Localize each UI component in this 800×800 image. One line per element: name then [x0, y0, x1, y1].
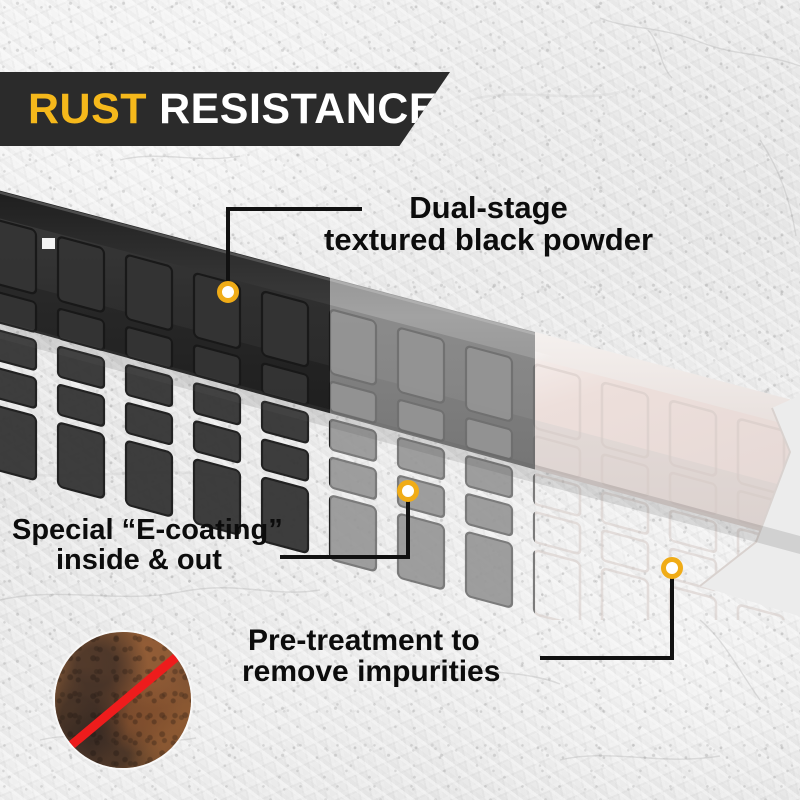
callout-marker-pretreat	[661, 557, 683, 579]
callout-pretreat-line1: Pre-treatment to	[248, 626, 500, 657]
callout-powder-line2: textured black powder	[324, 224, 653, 256]
title-banner: RUSTRESISTANCE	[0, 72, 450, 146]
reflection-speck	[42, 238, 55, 249]
callout-marker-ecoat	[397, 480, 419, 502]
callout-text-pretreatment: Pre-treatment to remove impurities	[248, 626, 500, 687]
callout-ecoat-line2: inside & out	[56, 546, 283, 576]
marketing-image: RUSTRESISTANCE Dual-stage textured black…	[0, 0, 800, 800]
leader-line-pretreat-horizontal	[540, 656, 674, 660]
callout-pretreat-line2: remove impurities	[242, 657, 500, 688]
leader-line-ecoat-vertical	[406, 495, 410, 559]
title-text: RUSTRESISTANCE	[28, 88, 438, 131]
title-word-rest: RESISTANCE	[159, 85, 438, 133]
callout-text-ecoat: Special “E-coating” inside & out	[12, 516, 283, 575]
title-word-highlight: RUST	[28, 85, 147, 133]
callout-marker-powder	[217, 281, 239, 303]
leader-line-pretreat-vertical	[670, 572, 674, 660]
leader-line-ecoat-horizontal	[280, 555, 410, 559]
callout-text-powder: Dual-stage textured black powder	[324, 192, 653, 255]
callout-powder-line1: Dual-stage	[324, 192, 653, 224]
no-rust-badge	[55, 632, 191, 768]
callout-ecoat-line1: Special “E-coating”	[12, 516, 283, 546]
